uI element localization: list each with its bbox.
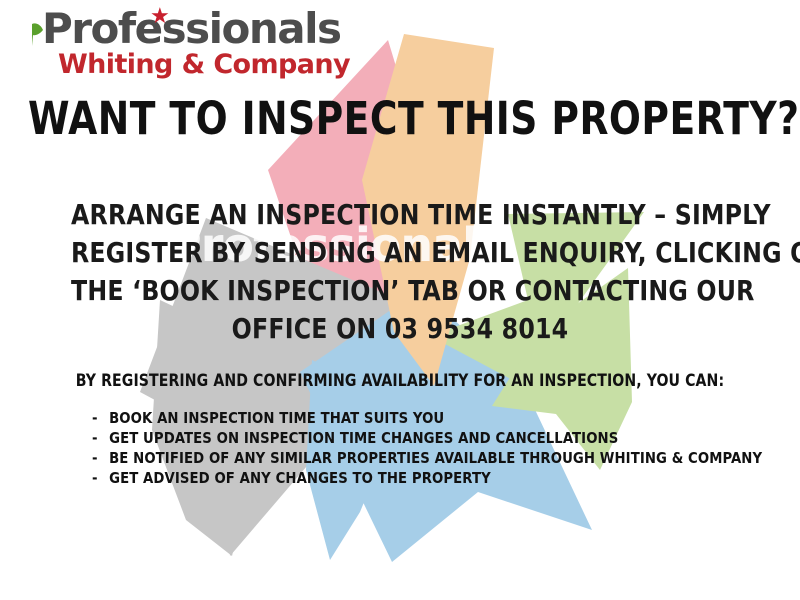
bullet-marker: - bbox=[92, 448, 109, 468]
subheading-line-1: ARRANGE AN INSPECTION TIME INSTANTLY – S… bbox=[71, 196, 729, 234]
list-item-label: GET ADVISED OF ANY CHANGES TO THE PROPER… bbox=[109, 469, 491, 487]
list-item: -BE NOTIFIED OF ANY SIMILAR PROPERTIES A… bbox=[92, 448, 762, 468]
subheading-block: ARRANGE AN INSPECTION TIME INSTANTLY – S… bbox=[71, 196, 729, 348]
flyer-content: WANT TO INSPECT THIS PROPERTY?? ARRANGE … bbox=[0, 0, 800, 600]
flyer-canvas: Professionals Professionals ★ Whiting & … bbox=[0, 0, 800, 600]
list-item-label: BE NOTIFIED OF ANY SIMILAR PROPERTIES AV… bbox=[109, 449, 762, 467]
leaf-icon bbox=[30, 20, 44, 46]
list-item: -GET UPDATES ON INSPECTION TIME CHANGES … bbox=[92, 428, 762, 448]
star-icon: ★ bbox=[150, 6, 168, 28]
logo-secondary-text: Whiting & Company bbox=[28, 51, 350, 78]
subheading-line-4-phone: OFFICE ON 03 9534 8014 bbox=[71, 310, 729, 348]
benefits-intro-text: BY REGISTERING AND CONFIRMING AVAILABILI… bbox=[68, 372, 733, 390]
company-logo: Professionals ★ Whiting & Company bbox=[28, 8, 350, 78]
page-title: WANT TO INSPECT THIS PROPERTY?? bbox=[28, 96, 772, 141]
subheading-line-2: REGISTER BY SENDING AN EMAIL ENQUIRY, CL… bbox=[71, 234, 729, 272]
list-item-label: GET UPDATES ON INSPECTION TIME CHANGES A… bbox=[109, 429, 618, 447]
subheading-line-3: THE ‘BOOK INSPECTION’ TAB OR CONTACTING … bbox=[71, 272, 729, 310]
bullet-marker: - bbox=[92, 408, 109, 428]
list-item-label: BOOK AN INSPECTION TIME THAT SUITS YOU bbox=[109, 409, 444, 427]
logo-primary-text: Professionals ★ bbox=[28, 8, 350, 50]
logo-primary-label: Professionals bbox=[42, 4, 341, 53]
bullet-marker: - bbox=[92, 428, 109, 448]
benefits-list: -BOOK AN INSPECTION TIME THAT SUITS YOU … bbox=[92, 408, 762, 488]
list-item: -BOOK AN INSPECTION TIME THAT SUITS YOU bbox=[92, 408, 762, 428]
bullet-marker: - bbox=[92, 468, 109, 488]
list-item: -GET ADVISED OF ANY CHANGES TO THE PROPE… bbox=[92, 468, 762, 488]
